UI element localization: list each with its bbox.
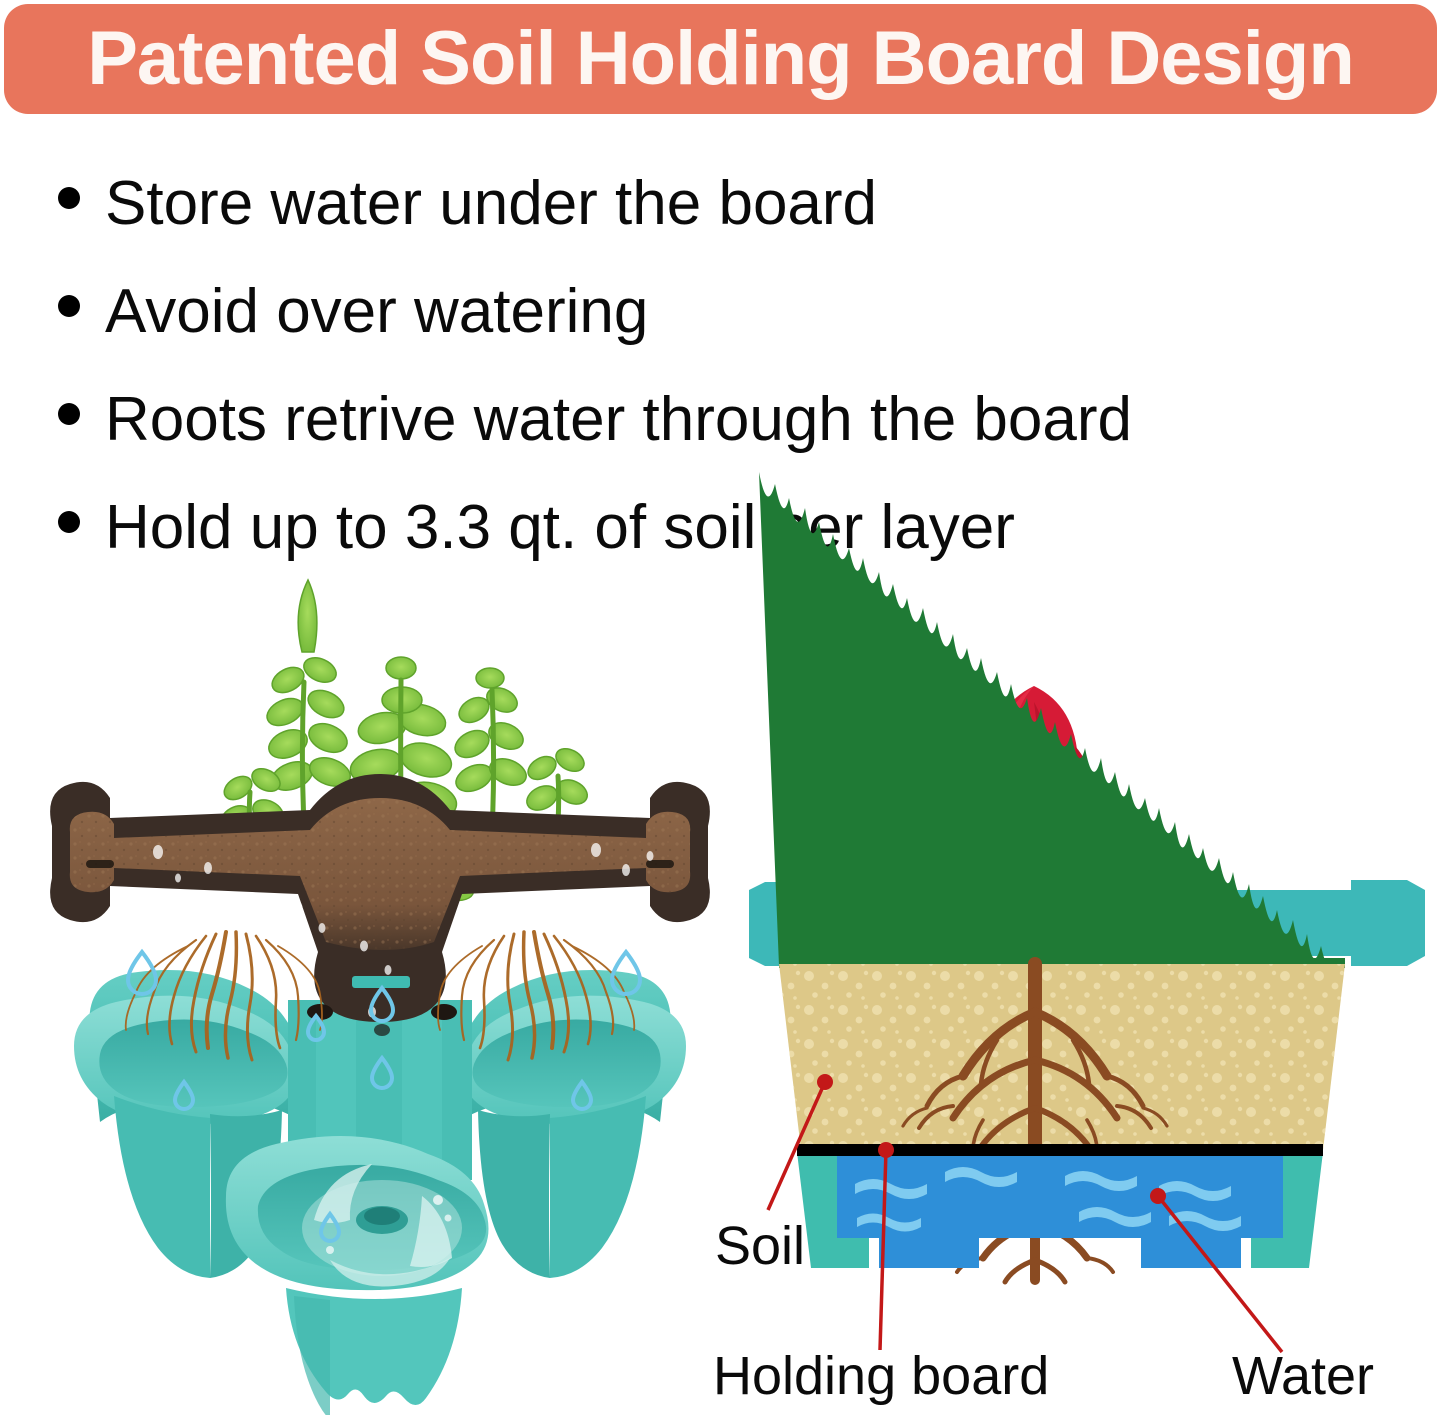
list-item: Avoid over watering: [0, 258, 1400, 366]
bullet-dot-icon: [58, 511, 80, 533]
label-water: Water: [1232, 1345, 1374, 1407]
bullet-dot-icon: [58, 295, 80, 317]
header-banner: Patented Soil Holding Board Design: [4, 4, 1437, 114]
leader-dot: [817, 1074, 1166, 1204]
illustration-area: [0, 560, 1445, 1415]
feature-label: Store water under the board: [105, 150, 877, 258]
feature-label: Roots retrive water through the board: [105, 366, 1132, 474]
feature-label: Avoid over watering: [105, 258, 648, 366]
diagram-leader-lines: [0, 560, 1445, 1415]
bullet-dot-icon: [58, 403, 80, 425]
label-soil: Soil: [715, 1215, 805, 1277]
label-holding-board: Holding board: [713, 1345, 1049, 1407]
list-item: Store water under the board: [0, 150, 1400, 258]
page-title: Patented Soil Holding Board Design: [87, 21, 1354, 97]
list-item: Roots retrive water through the board: [0, 366, 1400, 474]
feature-list: Store water under the board Avoid over w…: [0, 150, 1400, 582]
bullet-dot-icon: [58, 187, 80, 209]
